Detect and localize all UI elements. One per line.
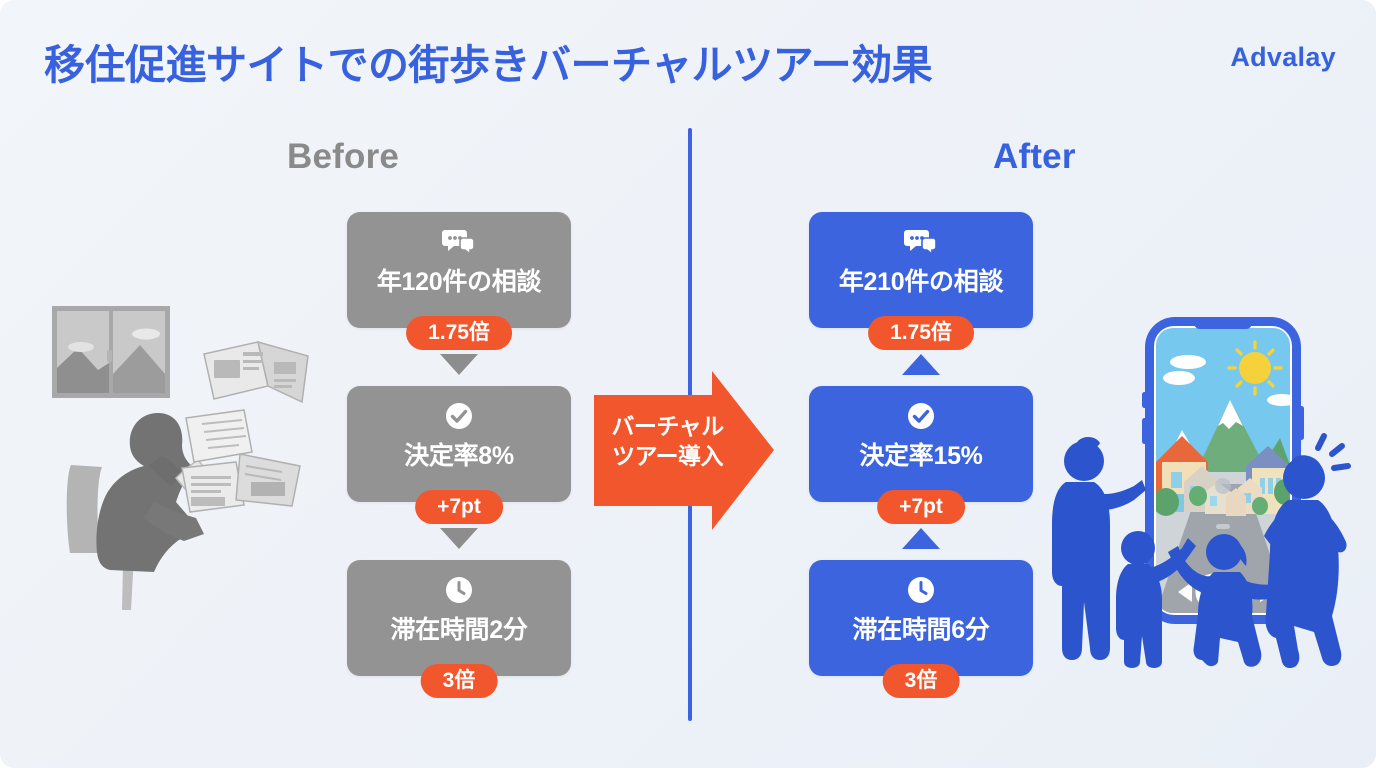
- before-card-consultations[interactable]: 年120件の相談 1.75倍: [347, 212, 571, 328]
- page-title: 移住促進サイトでの街歩きバーチャルツアー効果: [44, 31, 932, 91]
- after-card-decision-rate[interactable]: 決定率15% +7pt: [809, 386, 1033, 502]
- metric-badge: +7pt: [877, 490, 965, 524]
- infographic-slide: 移住促進サイトでの街歩きバーチャルツアー効果 Advalay Before Af…: [0, 0, 1376, 768]
- transition-arrow-label: バーチャル ツアー導入: [610, 411, 725, 472]
- person-reading-brochures-illustration: [36, 290, 346, 635]
- card-label: 滞在時間2分: [390, 610, 527, 646]
- metric-badge: 1.75倍: [406, 316, 512, 350]
- before-card-stack: 年120件の相談 1.75倍 決定率8% +7pt 滞在時間2分: [347, 212, 571, 676]
- chat-bubbles-icon: [904, 227, 938, 257]
- card-label: 年210件の相談: [839, 262, 1003, 298]
- transition-arrow: バーチャル ツアー導入: [594, 371, 774, 530]
- metric-badge: 3倍: [421, 664, 498, 698]
- up-triangle-icon: [902, 528, 940, 549]
- metric-badge: 3倍: [883, 664, 960, 698]
- chat-bubbles-icon: [442, 227, 476, 257]
- after-card-stack: 年210件の相談 1.75倍 決定率15% +7pt 滞在時間6: [809, 212, 1033, 676]
- brand-logo: Advalay: [1230, 42, 1336, 73]
- after-column-heading: After: [993, 137, 1076, 177]
- check-circle-icon: [442, 401, 476, 431]
- card-label: 滞在時間6分: [852, 610, 989, 646]
- family-smartphone-virtual-tour-illustration: [1042, 296, 1362, 668]
- arrow-label-line1: バーチャル: [610, 411, 725, 441]
- card-label: 決定率15%: [859, 436, 982, 472]
- arrow-label-line2: ツアー導入: [610, 441, 725, 471]
- after-card-consultations[interactable]: 年210件の相談 1.75倍: [809, 212, 1033, 328]
- metric-badge: +7pt: [415, 490, 503, 524]
- down-triangle-icon: [440, 528, 478, 549]
- after-card-dwell-time[interactable]: 滞在時間6分 3倍: [809, 560, 1033, 676]
- before-card-decision-rate[interactable]: 決定率8% +7pt: [347, 386, 571, 502]
- card-label: 年120件の相談: [377, 262, 541, 298]
- before-card-dwell-time[interactable]: 滞在時間2分 3倍: [347, 560, 571, 676]
- card-label: 決定率8%: [404, 436, 514, 472]
- clock-icon: [904, 575, 938, 605]
- before-column-heading: Before: [287, 137, 399, 177]
- clock-icon: [442, 575, 476, 605]
- down-triangle-icon: [440, 354, 478, 375]
- metric-badge: 1.75倍: [868, 316, 974, 350]
- up-triangle-icon: [902, 354, 940, 375]
- check-circle-icon: [904, 401, 938, 431]
